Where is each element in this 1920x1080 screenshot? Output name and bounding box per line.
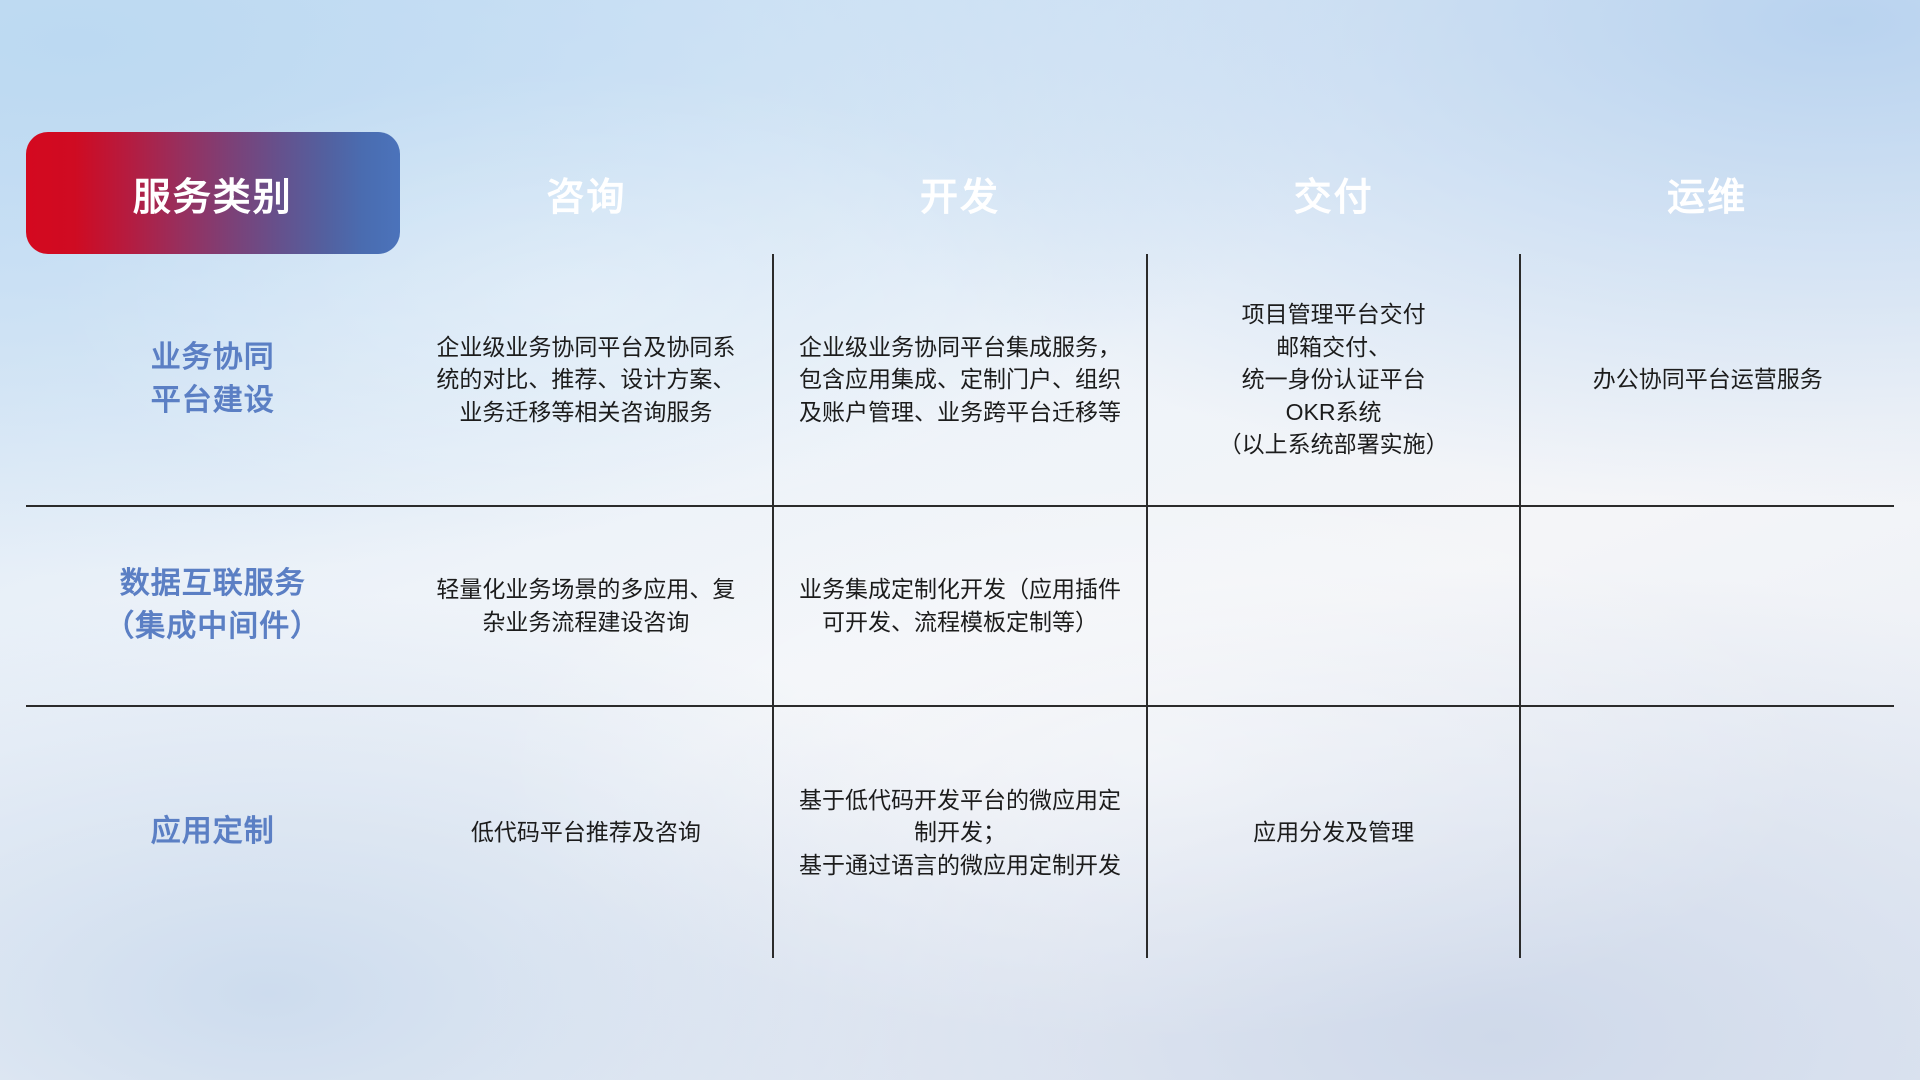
service-matrix-table: 服务类别 咨询 开发 交付 运维 业务协同 平台建设 企业级业务协同平台及协同 xyxy=(26,132,1894,958)
cell-delivery-row2 xyxy=(1147,506,1521,706)
header-cell-operations: 运维 xyxy=(1520,132,1894,254)
table-row: 数据互联服务 （集成中间件） 轻量化业务场景的多应用、复 杂业务流程建设咨询 业… xyxy=(26,506,1894,706)
table-header-row: 服务类别 咨询 开发 交付 运维 xyxy=(26,132,1894,254)
cell-consulting-row2: 轻量化业务场景的多应用、复 杂业务流程建设咨询 xyxy=(400,506,774,706)
header-label-service-category: 服务类别 xyxy=(133,177,293,219)
cell-development-row3: 基于低代码开发平台的微应用定 制开发； 基于通过语言的微应用定制开发 xyxy=(773,706,1147,958)
cell-category-row3: 应用定制 xyxy=(26,706,400,958)
cell-consulting-row3: 低代码平台推荐及咨询 xyxy=(400,706,774,958)
cell-operations-row2 xyxy=(1520,506,1894,706)
header-label-development: 开发 xyxy=(920,177,1000,219)
table-body: 业务协同 平台建设 企业级业务协同平台及协同系 统的对比、推荐、设计方案、 业务… xyxy=(26,254,1894,958)
service-matrix-card: 服务类别 咨询 开发 交付 运维 业务协同 平台建设 企业级业务协同平台及协同 xyxy=(26,132,1894,958)
cell-operations-row1: 办公协同平台运营服务 xyxy=(1520,254,1894,506)
header-label-consulting: 咨询 xyxy=(546,177,626,219)
cell-development-row2: 业务集成定制化开发（应用插件 可开发、流程模板定制等） xyxy=(773,506,1147,706)
table-row: 业务协同 平台建设 企业级业务协同平台及协同系 统的对比、推荐、设计方案、 业务… xyxy=(26,254,1894,506)
table-header: 服务类别 咨询 开发 交付 运维 xyxy=(26,132,1894,254)
header-cell-service-category: 服务类别 xyxy=(26,132,400,254)
header-label-operations: 运维 xyxy=(1667,177,1747,219)
header-cell-consulting: 咨询 xyxy=(400,132,774,254)
table-row: 应用定制 低代码平台推荐及咨询 基于低代码开发平台的微应用定 制开发； 基于通过… xyxy=(26,706,1894,958)
header-cell-development: 开发 xyxy=(773,132,1147,254)
cell-operations-row3 xyxy=(1520,706,1894,958)
cell-category-row1: 业务协同 平台建设 xyxy=(26,254,400,506)
header-cell-delivery: 交付 xyxy=(1147,132,1521,254)
header-label-delivery: 交付 xyxy=(1294,177,1374,219)
cell-category-row2: 数据互联服务 （集成中间件） xyxy=(26,506,400,706)
cell-delivery-row1: 项目管理平台交付 邮箱交付、 统一身份认证平台 OKR系统 （以上系统部署实施） xyxy=(1147,254,1521,506)
cell-development-row1: 企业级业务协同平台集成服务， 包含应用集成、定制门户、组织 及账户管理、业务跨平… xyxy=(773,254,1147,506)
cell-delivery-row3: 应用分发及管理 xyxy=(1147,706,1521,958)
cell-consulting-row1: 企业级业务协同平台及协同系 统的对比、推荐、设计方案、 业务迁移等相关咨询服务 xyxy=(400,254,774,506)
